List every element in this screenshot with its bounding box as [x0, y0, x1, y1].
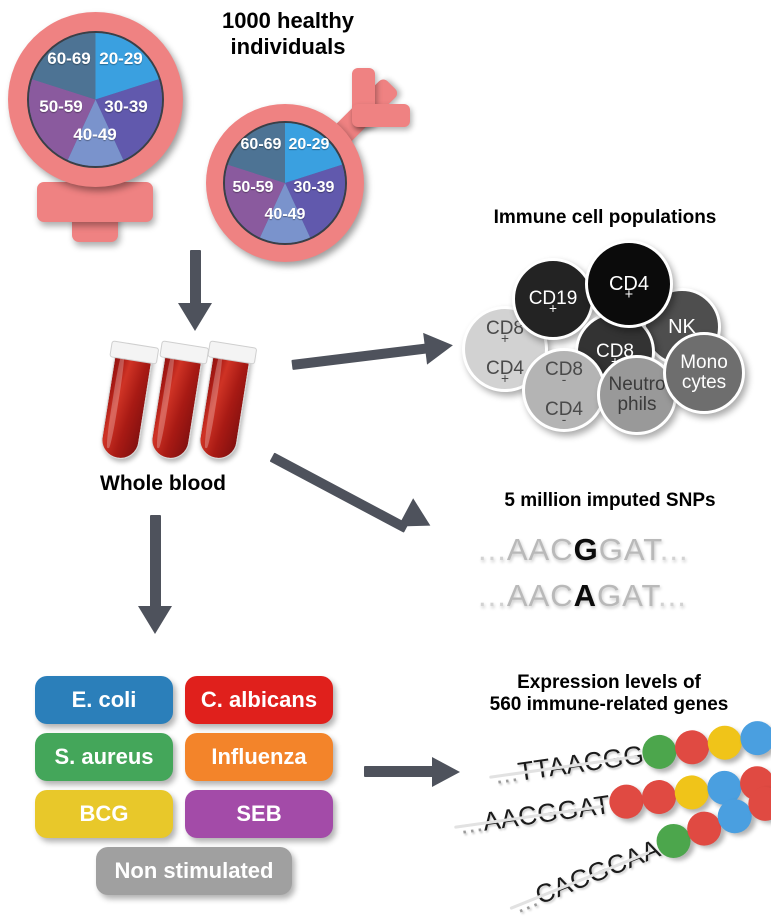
cell-cd4pos: CD4+	[585, 240, 673, 328]
cell-label: CD8-CD4-	[545, 360, 583, 420]
snp-sequence-row: ...AACAGAT...	[478, 578, 687, 614]
stimulation-c-albicans[interactable]: C. albicans	[185, 676, 333, 724]
cell-label: CD8+CD4+	[486, 319, 524, 379]
expression-bead	[706, 723, 744, 761]
cell-label: CD4+	[609, 274, 649, 295]
stimulation-panel: E. coli C. albicans S. aureus Influenza …	[0, 0, 380, 922]
strand-baseline	[509, 851, 649, 910]
snp-trail-ellipsis: ...	[658, 578, 687, 613]
snp-right-flank: GAT	[597, 578, 658, 613]
stimulation-s-aureus[interactable]: S. aureus	[35, 733, 173, 781]
snp-variant-allele: G	[574, 532, 599, 567]
stimulation-non-stimulated[interactable]: Non stimulated	[96, 847, 292, 895]
stimulation-bcg[interactable]: BCG	[35, 790, 173, 838]
section-title-snps: 5 million imputed SNPs	[450, 490, 770, 512]
snp-sequence-block: ...AACGGAT... ...AACAGAT...	[478, 532, 758, 622]
expression-bead	[672, 773, 710, 811]
snp-trail-ellipsis: ...	[660, 532, 689, 567]
cell-cd8neg-cd4neg: CD8-CD4-	[522, 348, 606, 432]
expression-bead	[641, 733, 679, 771]
stimulation-influenza[interactable]: Influenza	[185, 733, 333, 781]
expression-bead	[607, 782, 645, 820]
cell-label: Neutrophils	[608, 375, 665, 415]
arrow-shaft	[364, 766, 434, 777]
expression-bead	[640, 778, 678, 816]
arrow-head	[398, 498, 438, 539]
cell-label: CD19+	[529, 289, 578, 309]
cell-label: Monocytes	[680, 353, 728, 393]
snp-right-flank: GAT	[599, 532, 660, 567]
expression-bead	[739, 719, 771, 757]
cell-monocytes: Monocytes	[663, 332, 745, 414]
section-title-immune-cells: Immune cell populations	[440, 207, 770, 229]
immune-cell-cluster: CD8+CD4+ CD19+ CD4+ NK CD8+ CD8-CD4- Neu…	[450, 230, 770, 430]
stimulation-seb[interactable]: SEB	[185, 790, 333, 838]
expression-bead	[673, 728, 711, 766]
expression-strand-group: ...TTAACGG ...AACGGAT ...CACGCAA	[440, 700, 771, 915]
stimulation-e-coli[interactable]: E. coli	[35, 676, 173, 724]
snp-sequence-row: ...AACGGAT...	[478, 532, 689, 568]
snp-lead-ellipsis: ...	[478, 578, 507, 613]
snp-left-flank: AAC	[507, 532, 574, 567]
snp-lead-ellipsis: ...	[478, 532, 507, 567]
snp-left-flank: AAC	[507, 578, 574, 613]
figure-canvas: 1000 healthy individuals 20-29 30-39 40-…	[0, 0, 771, 922]
snp-variant-allele: A	[574, 578, 597, 613]
